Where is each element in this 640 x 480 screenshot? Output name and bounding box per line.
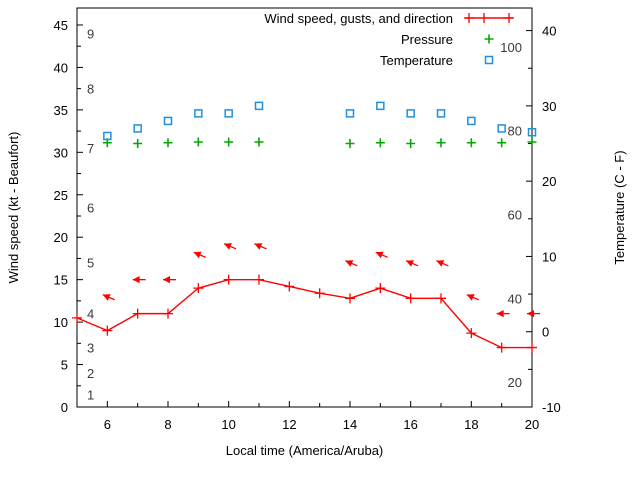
fahrenheit-scale-label: 60 (508, 207, 522, 222)
wind-speed-marker (345, 293, 355, 303)
legend-swatch-temperature (486, 57, 493, 64)
y2-axis-tick-label: 20 (542, 174, 556, 189)
wind-direction-arrow (376, 252, 388, 259)
y2-axis-tick-label: 10 (542, 249, 556, 264)
weather-chart: 051015202530354045-100102030406810121416… (0, 0, 640, 480)
y-axis-tick-label: 25 (54, 188, 68, 203)
wind-direction-arrow (194, 252, 206, 259)
x-axis-tick-label: 18 (464, 417, 478, 432)
pressure-marker (194, 138, 203, 147)
beaufort-scale-label: 9 (87, 26, 94, 41)
beaufort-scale-label: 1 (87, 387, 94, 402)
beaufort-scale-label: 8 (87, 82, 94, 97)
beaufort-scale-label: 4 (87, 307, 94, 322)
temperature-marker (438, 110, 445, 117)
wind-speed-marker (375, 283, 385, 293)
y-axis-tick-label: 0 (61, 400, 68, 415)
x-axis-tick-label: 10 (221, 417, 235, 432)
legend-label-0: Wind speed, gusts, and direction (264, 11, 453, 26)
wind-speed-marker (133, 309, 143, 319)
fahrenheit-scale-label: 40 (508, 292, 522, 307)
wind-speed-marker (315, 288, 325, 298)
pressure-marker (528, 138, 537, 147)
wind-speed-marker (284, 281, 294, 291)
y2-axis-tick-label: -10 (542, 400, 561, 415)
temperature-marker (225, 110, 232, 117)
wind-direction-arrow (467, 294, 479, 301)
legend-swatch-pressure (485, 35, 494, 44)
temperature-marker (377, 102, 384, 109)
pressure-marker (437, 138, 446, 147)
temperature-marker (347, 110, 354, 117)
chart-canvas: 051015202530354045-100102030406810121416… (0, 0, 640, 480)
beaufort-scale-label: 6 (87, 201, 94, 216)
wind-direction-arrow (527, 310, 540, 317)
wind-direction-arrow (254, 243, 266, 250)
temperature-marker (165, 117, 172, 124)
legend-label-2: Temperature (380, 53, 453, 68)
temperature-marker (407, 110, 414, 117)
y-axis-title: Wind speed (kt - Beaufort) (6, 132, 21, 284)
wind-speed-marker (102, 326, 112, 336)
wind-speed-marker (527, 343, 537, 353)
wind-direction-arrow (406, 260, 418, 267)
y-axis-tick-label: 10 (54, 315, 68, 330)
x-axis-tick-label: 20 (525, 417, 539, 432)
wind-speed-line (77, 280, 532, 348)
y-axis-tick-label: 20 (54, 230, 68, 245)
wind-speed-marker (406, 293, 416, 303)
x-axis-tick-label: 8 (164, 417, 171, 432)
wind-direction-arrow (103, 294, 115, 301)
wind-speed-marker (254, 275, 264, 285)
x-axis-tick-label: 12 (282, 417, 296, 432)
beaufort-scale-label: 7 (87, 141, 94, 156)
fahrenheit-scale-label: 80 (508, 124, 522, 139)
y2-axis-title: Temperature (C - F) (612, 150, 627, 264)
temperature-marker (195, 110, 202, 117)
wind-direction-arrow (497, 310, 510, 317)
wind-direction-arrow (345, 260, 357, 267)
pressure-marker (406, 139, 415, 148)
y2-axis-tick-label: 40 (542, 24, 556, 39)
pressure-marker (376, 138, 385, 147)
y-axis-tick-label: 40 (54, 60, 68, 75)
temperature-marker (468, 117, 475, 124)
beaufort-scale-label: 5 (87, 256, 94, 271)
pressure-marker (497, 138, 506, 147)
fahrenheit-scale-label: 20 (508, 375, 522, 390)
pressure-marker (164, 138, 173, 147)
legend-label-1: Pressure (401, 32, 453, 47)
pressure-marker (346, 139, 355, 148)
wind-speed-marker (224, 275, 234, 285)
wind-direction-arrow (224, 243, 236, 250)
beaufort-scale-label: 3 (87, 341, 94, 356)
y-axis-tick-label: 35 (54, 103, 68, 118)
x-axis-tick-label: 6 (104, 417, 111, 432)
x-axis-title: Local time (America/Aruba) (226, 443, 384, 458)
pressure-marker (467, 138, 476, 147)
y-axis-tick-label: 45 (54, 18, 68, 33)
y2-axis-tick-label: 0 (542, 325, 549, 340)
x-axis-tick-label: 16 (403, 417, 417, 432)
pressure-marker (255, 138, 264, 147)
x-axis-tick-label: 14 (343, 417, 357, 432)
y-axis-tick-label: 5 (61, 358, 68, 373)
temperature-marker (134, 125, 141, 132)
wind-direction-arrow (163, 276, 176, 283)
fahrenheit-scale-label: 100 (500, 40, 522, 55)
wind-direction-arrow (133, 276, 146, 283)
wind-direction-arrow (436, 260, 448, 267)
y2-axis-tick-label: 30 (542, 99, 556, 114)
wind-speed-marker (72, 313, 82, 323)
wind-speed-marker (497, 343, 507, 353)
pressure-marker (224, 138, 233, 147)
beaufort-scale-label: 2 (87, 366, 94, 381)
temperature-marker (256, 102, 263, 109)
temperature-marker (498, 125, 505, 132)
y-axis-tick-label: 15 (54, 273, 68, 288)
y-axis-tick-label: 30 (54, 145, 68, 160)
plot-border (77, 8, 532, 407)
pressure-marker (133, 139, 142, 148)
